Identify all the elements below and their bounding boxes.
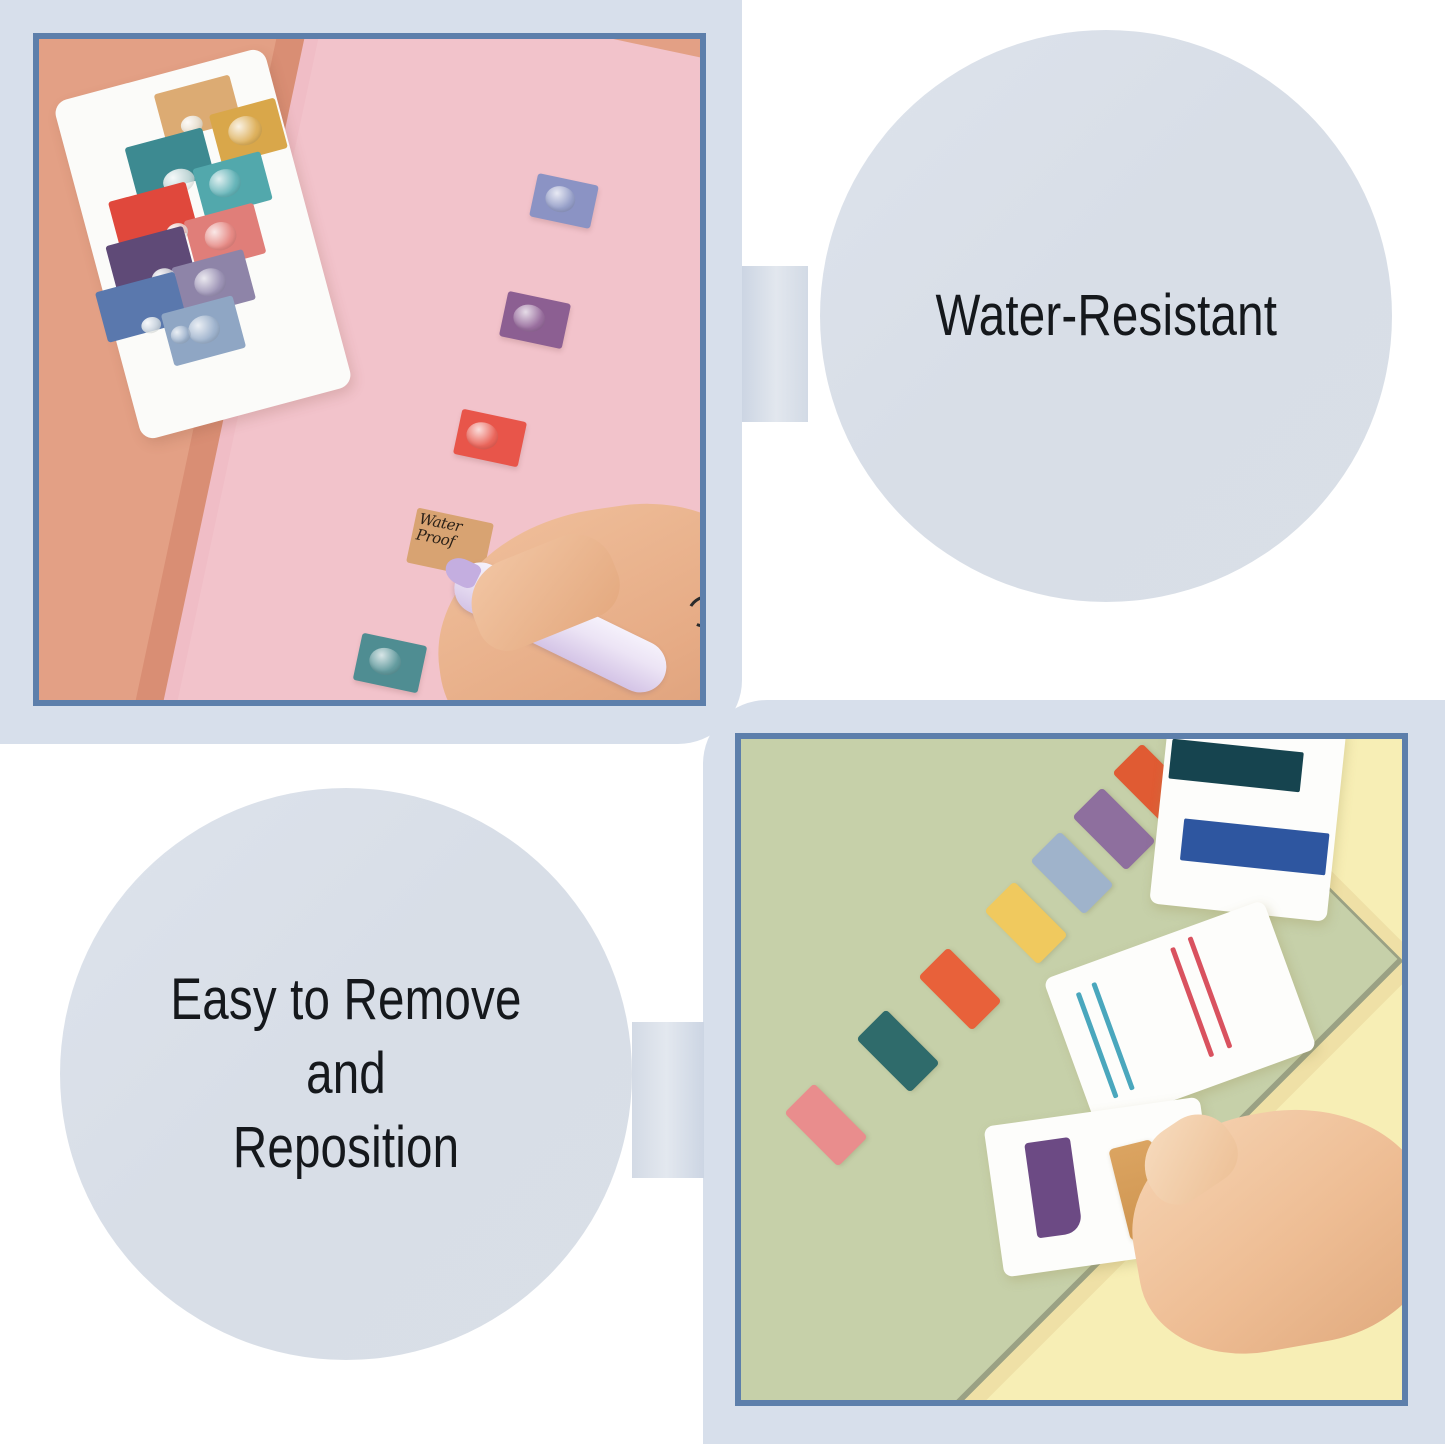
tab-sheet-solid xyxy=(1149,739,1347,922)
sheet-stripe-teal xyxy=(1091,982,1135,1091)
connector-tab-top-right xyxy=(742,266,808,422)
feature-headline-water-resistant: Water-Resistant xyxy=(912,279,1300,353)
sheet-stripe-red xyxy=(1187,936,1232,1049)
feature-callout-easy-remove: Easy to Remove and Reposition xyxy=(60,788,632,1360)
water-droplet xyxy=(543,183,578,215)
water-droplet xyxy=(225,112,265,149)
sheet-stripe-red xyxy=(1170,947,1214,1058)
water-droplet xyxy=(206,166,244,201)
connector-tab-bottom-left xyxy=(632,1022,704,1178)
water-droplet xyxy=(367,645,404,678)
product-feature-collage: Water Proof xyxy=(0,0,1445,1444)
sheet-tab-purple-remaining xyxy=(1024,1137,1083,1238)
sheet-band-dark-teal xyxy=(1168,739,1303,792)
water-droplet xyxy=(464,419,501,452)
sheet-band-navy-blue xyxy=(1180,818,1330,875)
feature-callout-water-resistant: Water-Resistant xyxy=(820,30,1392,602)
feature-headline-easy-remove: Easy to Remove and Reposition xyxy=(111,963,580,1186)
water-droplet xyxy=(201,219,239,254)
water-droplet xyxy=(185,312,223,347)
water-droplet xyxy=(511,302,548,335)
photo-bottom-right-content xyxy=(741,739,1402,1400)
sheet-stripe-teal xyxy=(1076,992,1119,1099)
photo-water-resistant: Water Proof xyxy=(33,33,706,706)
photo-easy-remove xyxy=(735,733,1408,1406)
water-droplet xyxy=(191,265,229,300)
photo-top-left-content: Water Proof xyxy=(39,39,700,700)
